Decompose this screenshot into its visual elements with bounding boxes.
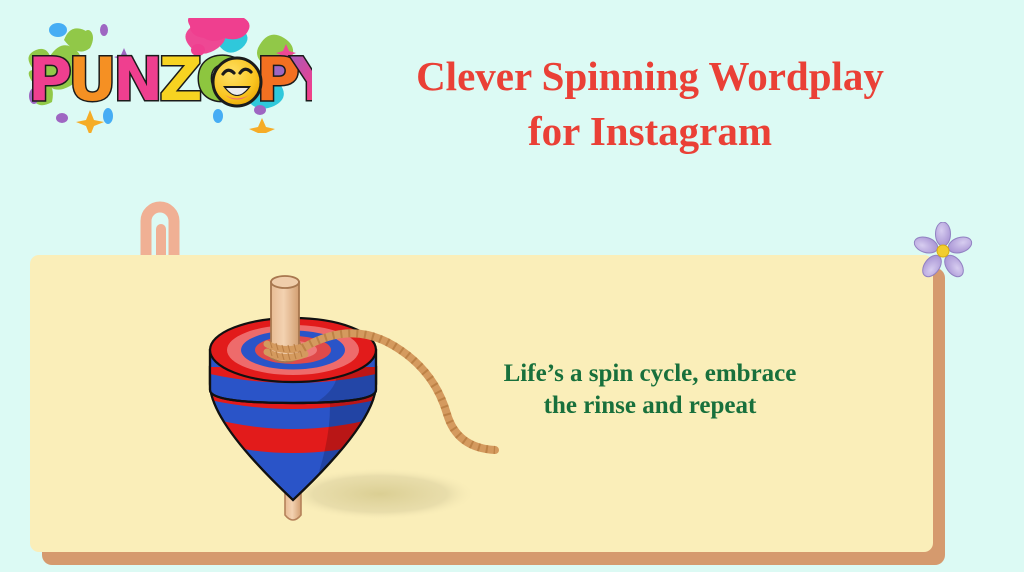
page-root: P U N Z C P Y — [0, 0, 1024, 572]
logo-letter-n: N — [113, 45, 163, 115]
logo-letter-p1: P — [28, 45, 72, 115]
page-title: Clever Spinning Wordplay for Instagram — [300, 49, 1000, 159]
flower-icon — [912, 222, 974, 284]
page-header: P U N Z C P Y — [0, 0, 1024, 150]
logo-letter-u: U — [68, 45, 117, 115]
page-title-line-1: Clever Spinning Wordplay — [300, 49, 1000, 104]
punzcopy-logo[interactable]: P U N Z C P Y — [12, 18, 312, 133]
quote-text: Life’s a spin cycle, embrace the rinse a… — [440, 358, 860, 422]
quote-line-1: Life’s a spin cycle, embrace — [440, 358, 860, 390]
quote-line-2: the rinse and repeat — [440, 390, 860, 422]
punzcopy-logo-svg: P U N Z C P Y — [12, 18, 312, 133]
flower-svg — [912, 222, 974, 284]
laughing-face-icon — [213, 58, 261, 106]
page-title-line-2: for Instagram — [300, 104, 1000, 159]
